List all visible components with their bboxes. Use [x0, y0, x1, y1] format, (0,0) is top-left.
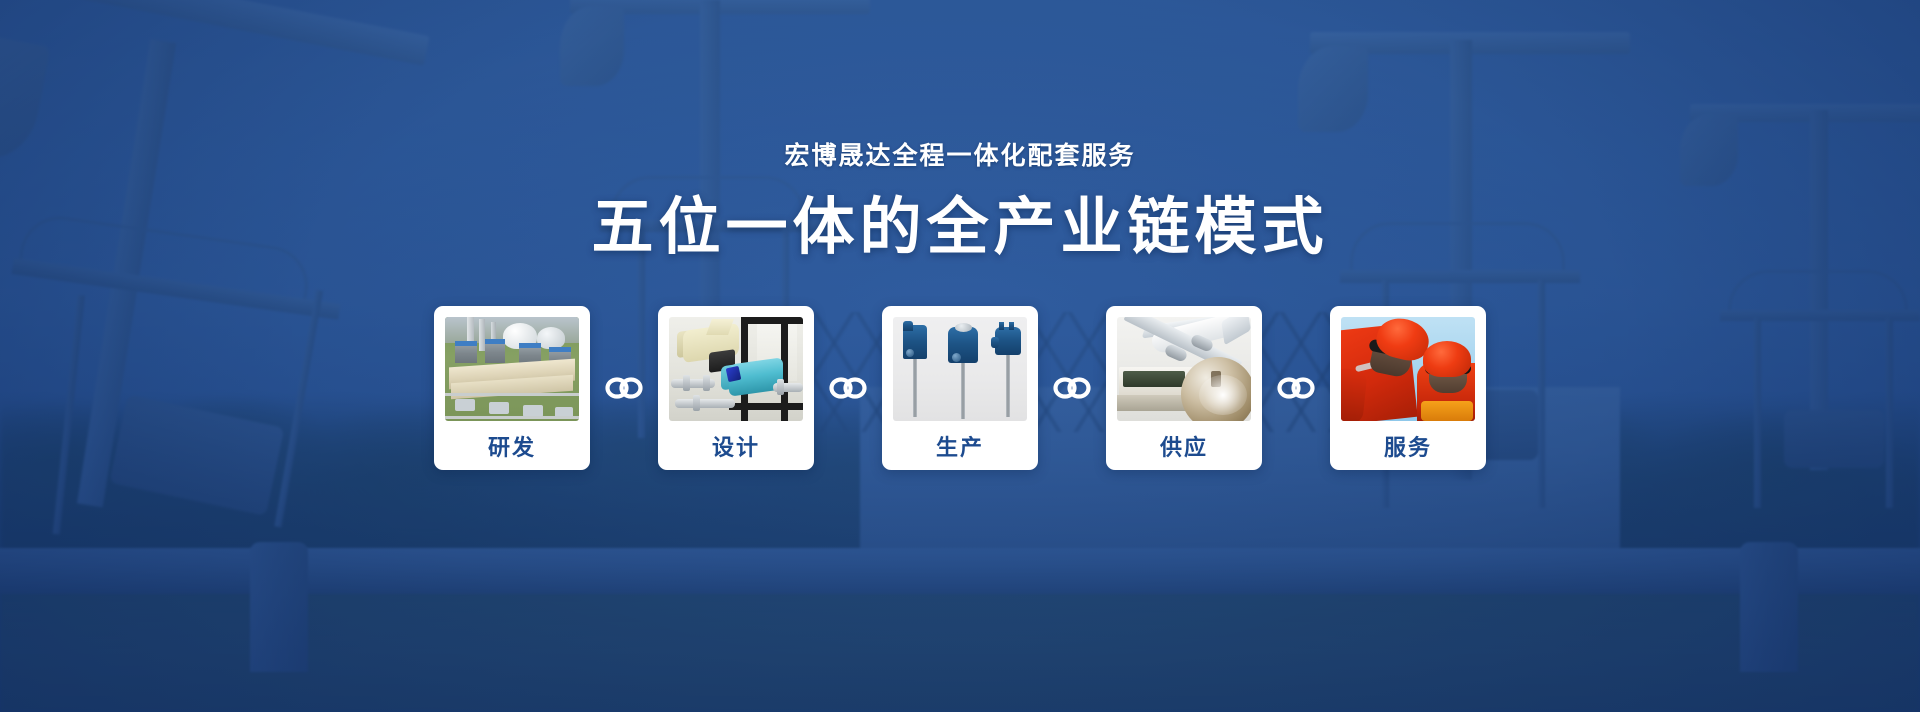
chain-connector-4 [1262, 376, 1330, 400]
chain-link-icon [1277, 376, 1315, 400]
cargo-plane-truck-globe-image [1117, 317, 1251, 421]
chain-step-card-gongying[interactable]: 供应 [1106, 306, 1262, 470]
field-service-workers-image [1341, 317, 1475, 421]
cad-pump-skid-render-image [669, 317, 803, 421]
chain-step-label: 供应 [1160, 421, 1208, 470]
chain-step-label: 服务 [1384, 421, 1432, 470]
chain-step-label: 生产 [936, 421, 984, 470]
hero-banner: 宏博晟达全程一体化配套服务 五位一体的全产业链模式 [0, 0, 1920, 712]
level-sensor-instruments-image [893, 317, 1027, 421]
banner-title: 五位一体的全产业链模式 [591, 195, 1328, 260]
banner-content: 宏博晟达全程一体化配套服务 五位一体的全产业链模式 [0, 0, 1920, 712]
chain-link-icon [829, 376, 867, 400]
chain-step-card-yanfa[interactable]: 研发 [434, 306, 590, 470]
chain-link-icon [605, 376, 643, 400]
chain-connector-2 [814, 376, 882, 400]
chain-step-label: 研发 [488, 421, 536, 470]
banner-subtitle: 宏博晟达全程一体化配套服务 [784, 144, 1135, 169]
chain-step-card-sheji[interactable]: 设计 [658, 306, 814, 470]
chain-connector-3 [1038, 376, 1106, 400]
chain-link-icon [1053, 376, 1091, 400]
chain-step-label: 设计 [712, 421, 760, 470]
petrochemical-plant-aerial-image [445, 317, 579, 421]
chain-step-card-fuwu[interactable]: 服务 [1330, 306, 1486, 470]
chain-step-card-shengchan[interactable]: 生产 [882, 306, 1038, 470]
chain-connector-1 [590, 376, 658, 400]
value-chain-row: 研发 [434, 306, 1486, 470]
